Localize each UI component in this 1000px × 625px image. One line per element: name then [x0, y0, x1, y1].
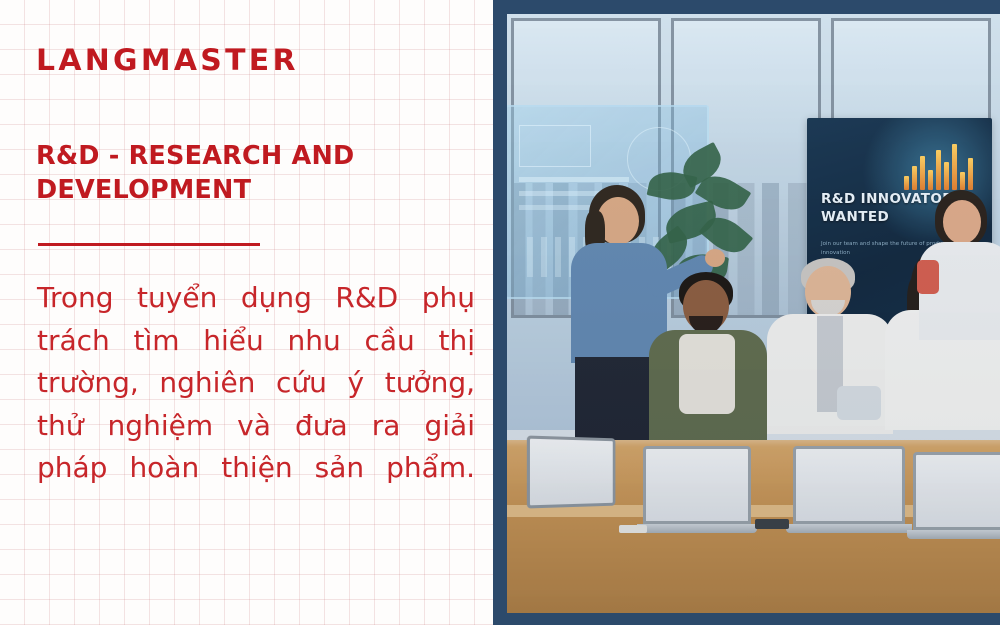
paper-on-table	[619, 525, 647, 533]
title-divider	[38, 243, 260, 246]
photo-frame-left	[493, 0, 507, 625]
office-meeting-photo: R&D INNOVATORS WANTED Join our team and …	[493, 0, 1000, 625]
presenter-hand	[705, 249, 725, 267]
phone-on-table	[755, 519, 789, 529]
laptop-1	[643, 446, 751, 533]
left-content-inner: LANGMASTER R&D - RESEARCH AND DEVELOPMEN…	[36, 0, 476, 625]
banner-chart-icon	[904, 144, 982, 190]
laptop-screen	[643, 446, 751, 524]
tshirt	[679, 334, 735, 414]
left-content-panel: LANGMASTER R&D - RESEARCH AND DEVELOPMEN…	[0, 0, 493, 625]
laptop-screen	[913, 452, 1000, 530]
page-title: R&D - RESEARCH AND DEVELOPMENT	[36, 140, 456, 207]
laptop-base	[637, 524, 758, 533]
person-standing-rear	[913, 190, 1000, 340]
laptop-3	[913, 452, 1000, 539]
person-seated-2	[765, 258, 905, 453]
red-device-icon	[917, 260, 939, 294]
photo-frame-top	[493, 0, 1000, 14]
poster-root: LANGMASTER R&D - RESEARCH AND DEVELOPMEN…	[0, 0, 1000, 625]
description-paragraph: Trong tuyển dụng R&D phụ trách tìm hiểu …	[37, 277, 475, 532]
laptop-2	[793, 446, 905, 533]
photo-panel: R&D INNOVATORS WANTED Join our team and …	[493, 0, 1000, 625]
tablet-device	[527, 435, 616, 508]
photo-frame-bottom	[493, 613, 1000, 625]
langmaster-logo: LANGMASTER	[36, 46, 299, 75]
device-in-hand	[837, 386, 881, 420]
laptop-base	[907, 530, 1000, 539]
laptop-base	[786, 524, 911, 533]
laptop-screen	[793, 446, 905, 524]
person-seated-1	[645, 272, 780, 452]
